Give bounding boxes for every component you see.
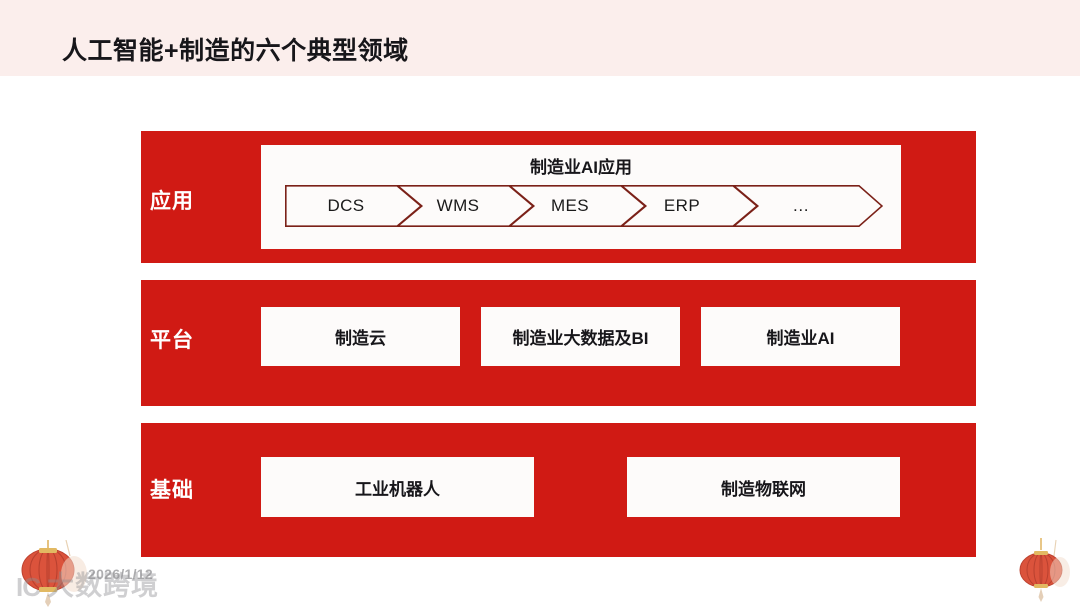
slide-canvas: 人工智能+制造的六个典型领域 应用 制造业AI应用 DCS WMS MES ER… — [0, 0, 1080, 608]
layer-label-application: 应用 — [150, 185, 194, 215]
application-card-title: 制造业AI应用 — [261, 153, 901, 178]
application-pipeline: DCS WMS MES ERP … — [285, 185, 883, 227]
pipeline-step-label: WMS — [437, 196, 480, 216]
pipeline-step-label: DCS — [327, 196, 364, 216]
layer-label-foundation: 基础 — [150, 474, 194, 504]
pipeline-step-label: MES — [551, 196, 589, 216]
platform-node-manufacturing-ai[interactable]: 制造业AI — [701, 307, 900, 366]
platform-node-manufacturing-cloud[interactable]: 制造云 — [261, 307, 460, 366]
pipeline-step-label: … — [792, 196, 809, 216]
foundation-node-industrial-robot[interactable]: 工业机器人 — [261, 457, 534, 517]
application-card: 制造业AI应用 DCS WMS MES ERP … — [261, 145, 901, 249]
foundation-node-manufacturing-iot[interactable]: 制造物联网 — [627, 457, 900, 517]
layer-label-platform: 平台 — [150, 324, 194, 354]
pipeline-step-dcs[interactable]: DCS — [285, 185, 421, 227]
pipeline-step-label: ERP — [664, 196, 700, 216]
layered-architecture-diagram: 应用 制造业AI应用 DCS WMS MES ERP … — [0, 0, 1080, 608]
platform-node-bigdata-bi[interactable]: 制造业大数据及BI — [481, 307, 680, 366]
date-stamp: 2026/1/12 — [88, 566, 153, 582]
